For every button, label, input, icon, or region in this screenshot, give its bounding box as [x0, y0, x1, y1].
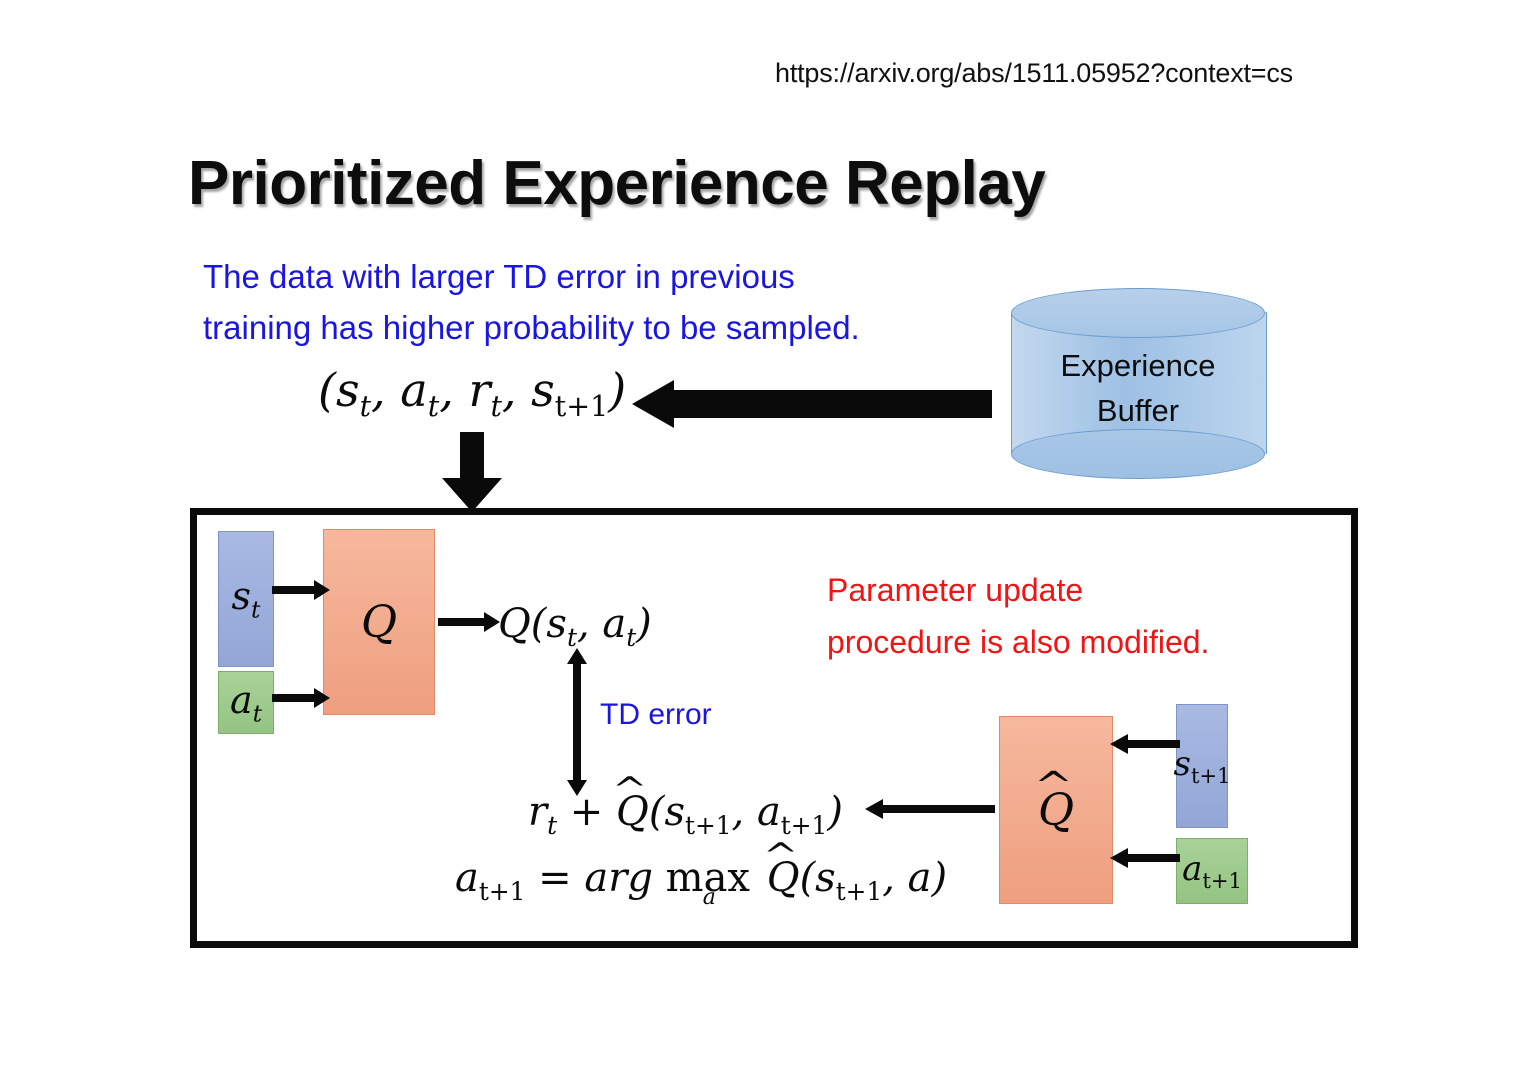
target-q-network-label: Q [1038, 785, 1074, 836]
experience-buffer-cylinder: Experience Buffer [1011, 288, 1265, 478]
paper-url-reference: https://arxiv.org/abs/1511.05952?context… [775, 58, 1293, 89]
tuple-reward: r [468, 363, 490, 417]
target-qhat-symbol: Q [616, 789, 649, 835]
argmax-close: ) [932, 855, 948, 901]
tuple-next-state-sub: t+1 [555, 390, 609, 423]
update-note-line-2: procedure is also modified. [827, 617, 1209, 669]
next-action-input-box: at+1 [1176, 838, 1248, 904]
td-target-expression: rt + Q(st+1, at+1) [528, 789, 843, 840]
target-q-network-box: Q [999, 716, 1113, 904]
slide-canvas: https://arxiv.org/abs/1511.05952?context… [0, 0, 1524, 1080]
tuple-state: s [336, 363, 360, 417]
next-state-subscript: t+1 [1191, 763, 1231, 788]
arrow-td-error-double [565, 648, 589, 796]
arrow-next-state-to-qhat [1110, 732, 1180, 756]
next-state-label: st+1 [1174, 744, 1231, 788]
target-comma: , a [732, 789, 781, 835]
sampling-note-line-2: training has higher probability to be sa… [203, 302, 860, 353]
target-close: ) [827, 789, 843, 835]
next-action-symbol: a [1182, 849, 1202, 889]
tuple-open: ( [318, 363, 336, 417]
tuple-reward-sub: t [490, 390, 501, 423]
target-reward-symbol: r [528, 789, 547, 835]
action-input-label: at [230, 678, 262, 728]
q-network-box: Q [323, 529, 435, 715]
sampling-note-line-1: The data with larger TD error in previou… [203, 251, 860, 302]
argmax-sub: t+1 [836, 877, 883, 906]
parameter-update-note: Parameter update procedure is also modif… [827, 565, 1209, 669]
tuple-action: a [400, 363, 427, 417]
tuple-action-sub: t [428, 390, 439, 423]
q-output-close: ) [636, 601, 652, 647]
state-input-label: st [232, 574, 261, 624]
q-output-sub-2: t [626, 623, 636, 652]
target-plus: + [557, 789, 616, 835]
tuple-close: ) [608, 363, 626, 417]
state-input-symbol: s [232, 574, 252, 618]
sampling-note: The data with larger TD error in previou… [203, 251, 860, 353]
argmax-arg: arg [584, 855, 653, 901]
next-action-label: at+1 [1182, 849, 1242, 893]
page-title: Prioritized Experience Replay [188, 148, 1045, 219]
arrow-q-to-output [438, 610, 500, 634]
action-input-subscript: t [253, 699, 262, 727]
experience-buffer-label: Experience Buffer [1011, 344, 1265, 434]
state-input-subscript: t [251, 596, 260, 624]
buffer-label-line-1: Experience [1011, 344, 1265, 389]
argmax-equals: = [525, 855, 584, 901]
td-error-label: TD error [600, 698, 712, 732]
transition-tuple: (st, at, rt, st+1) [318, 363, 626, 423]
tuple-next-state: s [531, 363, 555, 417]
state-input-box: st [218, 531, 274, 667]
tuple-comma-2: , [439, 363, 468, 417]
argmax-lhs-symbol: a [455, 855, 479, 901]
q-value-output: Q(st, at) [498, 601, 652, 652]
tuple-state-sub: t [360, 390, 371, 423]
block-arrow-tuple-to-diagram [442, 432, 502, 512]
arrow-qhat-to-target [865, 797, 995, 821]
cylinder-bottom [1011, 429, 1265, 479]
tuple-comma-1: , [371, 363, 400, 417]
arrow-next-action-to-qhat [1110, 846, 1180, 870]
target-sub-1: t+1 [685, 811, 732, 840]
argmax-lhs-sub: t+1 [479, 877, 526, 906]
arrow-action-to-q [272, 686, 330, 710]
next-state-input-box: st+1 [1176, 704, 1228, 828]
tuple-comma-3: , [502, 363, 531, 417]
argmax-comma: , a [882, 855, 931, 901]
block-arrow-buffer-to-tuple [632, 380, 992, 428]
target-reward-sub: t [547, 811, 557, 840]
cylinder-top [1011, 288, 1265, 338]
argmax-expression: at+1 = arg maxaQ(st+1, a) [455, 855, 947, 906]
action-input-box: at [218, 671, 274, 734]
target-open: (s [649, 789, 685, 835]
q-output-open: Q(s [498, 601, 567, 647]
action-input-symbol: a [230, 678, 253, 722]
q-output-mid: , a [577, 601, 626, 647]
argmax-open: (s [800, 855, 836, 901]
argmax-qhat-symbol: Q [767, 855, 800, 901]
update-note-line-1: Parameter update [827, 565, 1209, 617]
q-network-label: Q [361, 597, 397, 648]
argmax-max: max [653, 855, 750, 901]
next-action-subscript: t+1 [1202, 868, 1242, 893]
buffer-label-line-2: Buffer [1011, 389, 1265, 434]
arrow-state-to-q [272, 578, 330, 602]
